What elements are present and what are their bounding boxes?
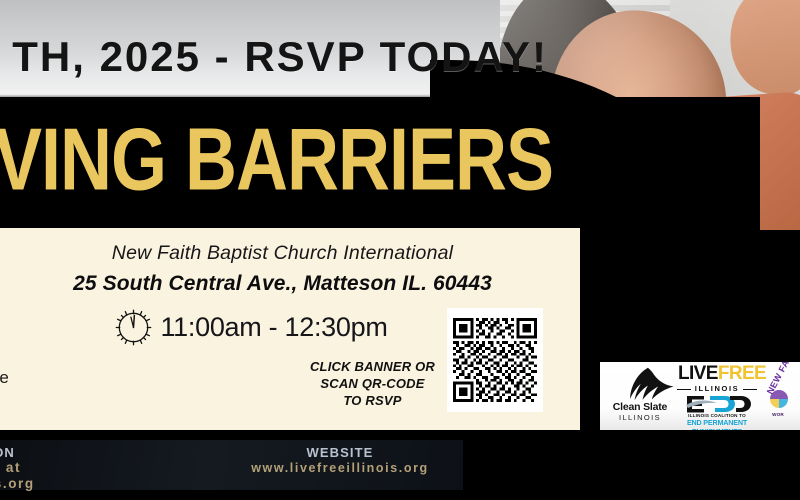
footer-contact-heading: MATION xyxy=(0,445,128,460)
eagle-wing-icon xyxy=(620,366,674,406)
footer-contact-line1: aples at xyxy=(0,460,128,476)
logo-live-free-word1: LIVE xyxy=(678,363,718,384)
event-time: 11:00am - 12:30pm xyxy=(160,312,387,343)
qr-code-icon[interactable] xyxy=(453,318,537,402)
rsvp-instructions: CLICK BANNER OR SCAN QR-CODE TO RSVP xyxy=(305,358,440,409)
logo-e2p-sub2: END PERMANENT PUNISHMENTS xyxy=(678,418,756,430)
footer-website-column: WEBSITE www.livefreeillinois.org xyxy=(215,445,465,476)
footer-contact-column: MATION aples at linois.org xyxy=(0,445,128,492)
logo-live-free[interactable]: LIVEFREE ILLINOIS ILLINOIS COALITION TO … xyxy=(678,362,756,430)
truncated-text: ance xyxy=(0,368,9,388)
logo-clean-slate-sub: ILLINOIS xyxy=(603,413,677,422)
qr-code-container[interactable] xyxy=(447,308,543,412)
footer-bar: MATION aples at linois.org WEBSITE www.l… xyxy=(0,438,800,500)
e2p-icon xyxy=(682,394,752,414)
footer-website-url[interactable]: www.livefreeillinois.org xyxy=(215,460,465,476)
footer-inner-panel: MATION aples at linois.org WEBSITE www.l… xyxy=(0,440,463,490)
clock-icon xyxy=(112,306,155,349)
logo-live-free-wordmark: LIVEFREE xyxy=(678,364,756,384)
event-banner[interactable]: TH, 2025 - RSVP TODAY! VING BARRIERS New… xyxy=(0,0,800,500)
headline-title: VING BARRIERS xyxy=(0,93,594,227)
footer-contact-line2: linois.org xyxy=(0,476,128,492)
rsvp-instructions-line2: SCAN QR-CODE xyxy=(305,375,440,392)
logo-clean-slate[interactable]: Clean Slate ILLINOIS xyxy=(600,362,678,430)
logo-new-faith[interactable]: NEW FA WOR xyxy=(756,362,800,430)
footer-website-heading: WEBSITE xyxy=(215,445,465,460)
event-time-row: 11:00am - 12:30pm xyxy=(0,306,500,349)
rsvp-instructions-line1: CLICK BANNER OR xyxy=(305,358,440,375)
venue-address: 25 South Central Ave., Matteson IL. 6044… xyxy=(0,272,565,296)
logo-live-free-sub-text: ILLINOIS xyxy=(691,384,743,393)
venue-name: New Faith Baptist Church International xyxy=(0,242,565,265)
logo-clean-slate-name: Clean Slate xyxy=(603,401,677,413)
logo-new-faith-mark xyxy=(770,390,788,408)
logo-new-faith-sub: WOR xyxy=(753,412,800,417)
partner-logo-strip: Clean Slate ILLINOIS LIVEFREE ILLINOIS I… xyxy=(600,362,800,430)
rsvp-instructions-line3: TO RSVP xyxy=(305,392,440,409)
logo-live-free-sub: ILLINOIS xyxy=(678,384,756,393)
headline-date: TH, 2025 - RSVP TODAY! xyxy=(0,25,760,89)
